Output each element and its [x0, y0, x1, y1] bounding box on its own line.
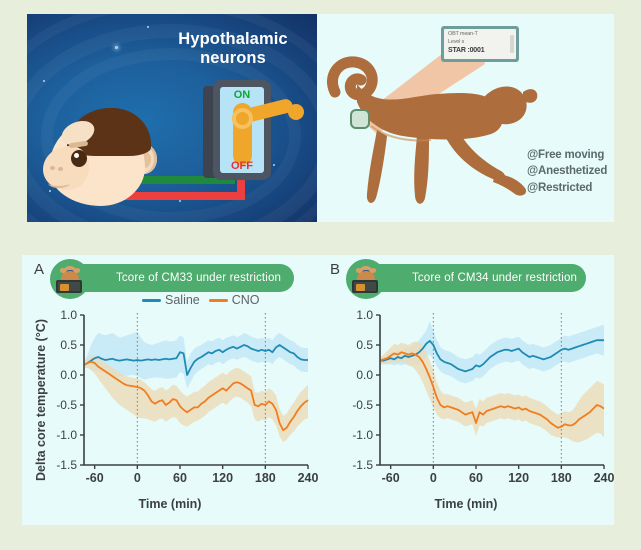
y-tick-label: 0.5	[356, 338, 373, 352]
panel-b-badge: Tcore of CM34 under restriction	[354, 264, 586, 292]
switch-lever-tip	[288, 104, 304, 120]
y-tick-label: 0.0	[356, 368, 373, 382]
panel-b-badge-label: Tcore of CM34 under restriction	[412, 272, 577, 284]
star-icon	[43, 80, 45, 82]
x-tick-label: 240	[298, 471, 318, 485]
y-tick-label: -1.0	[352, 428, 373, 442]
switch-on-label: ON	[220, 89, 264, 101]
x-tick-label: 180	[551, 471, 572, 485]
monkey-in-chair-icon	[50, 259, 90, 299]
data-logger-icon: OBT mean-T Level s STAR :0001	[441, 26, 519, 62]
y-tick-label: -0.5	[352, 398, 373, 412]
x-tick-label: 0	[430, 471, 437, 485]
panel-a-svg: -1.5-1.0-0.50.00.51.0-60060120180240	[22, 301, 318, 501]
legend-swatch-saline	[142, 299, 161, 302]
title-line-1: Hypothalamic	[157, 30, 309, 49]
monkey-tail	[332, 62, 372, 95]
panel-a-badge: Tcore of CM33 under restriction	[58, 264, 294, 292]
x-tick-label: 60	[173, 471, 187, 485]
top-illustration-card: Hypothalamic neurons ON	[27, 14, 614, 222]
condition-item: @Free moving	[527, 147, 607, 163]
x-axis-label: Time (min)	[22, 497, 318, 511]
hypothalamic-neurons-scene: Hypothalamic neurons ON	[27, 14, 317, 222]
y-tick-label: -1.5	[56, 458, 77, 472]
legend-item-cno: CNO	[209, 293, 260, 307]
panel-b-letter: B	[330, 261, 340, 278]
y-axis-label: Delta core temperature (°C)	[34, 315, 48, 485]
monkey-snout	[523, 89, 537, 103]
switch-off-label: OFF	[220, 160, 264, 172]
monkey-hand	[493, 174, 526, 196]
x-tick-label: 120	[212, 471, 233, 485]
title-line-2: neurons	[157, 49, 309, 68]
legend-label-cno: CNO	[232, 293, 260, 307]
logger-line-2: Level s	[448, 39, 464, 45]
y-tick-label: 0.5	[60, 338, 77, 352]
star-icon	[115, 46, 118, 49]
badge-chair-box	[352, 280, 378, 293]
monkey-nostril	[50, 166, 55, 170]
panel-b: B Tcore of CM34 under restriction -1.5-1…	[318, 255, 614, 525]
logger-line-3: STAR :0001	[448, 47, 484, 54]
x-tick-label: -60	[86, 471, 104, 485]
logger-line-1: OBT mean-T	[448, 31, 478, 37]
condition-item: @Restricted	[527, 180, 607, 196]
chart-legend: Saline CNO	[142, 293, 260, 307]
monkey-eye	[71, 150, 87, 167]
legend-swatch-cno	[209, 299, 228, 302]
panel-a-letter: A	[34, 261, 44, 278]
x-tick-label: 180	[255, 471, 276, 485]
switch-plate: ON OFF	[220, 87, 264, 173]
badge-chair-box	[56, 280, 82, 293]
legend-label-saline: Saline	[165, 293, 200, 307]
panel-a-plot: Delta core temperature (°C) Saline CNO -…	[22, 301, 318, 525]
y-tick-label: 1.0	[356, 308, 373, 322]
star-icon	[273, 164, 275, 166]
x-tick-label: 60	[469, 471, 483, 485]
panel-a-badge-label: Tcore of CM33 under restriction	[116, 272, 281, 284]
y-tick-label: 1.0	[60, 308, 77, 322]
logger-side-tab	[510, 35, 514, 53]
legend-item-saline: Saline	[142, 293, 200, 307]
y-tick-label: -1.5	[352, 458, 373, 472]
x-tick-label: 240	[594, 471, 614, 485]
y-tick-label: -1.0	[56, 428, 77, 442]
x-tick-label: 120	[508, 471, 529, 485]
condition-item: @Anesthetized	[527, 163, 607, 179]
panel-b-svg: -1.5-1.0-0.50.00.51.0-60060120180240	[318, 301, 614, 501]
star-icon	[147, 26, 149, 28]
monkey-leg-rear	[414, 136, 429, 204]
x-axis-label: Time (min)	[318, 497, 614, 511]
y-tick-label: -0.5	[56, 398, 77, 412]
x-tick-label: -60	[382, 471, 400, 485]
condition-list: @Free moving @Anesthetized @Restricted	[527, 147, 607, 196]
panel-b-plot: -1.5-1.0-0.50.00.51.0-60060120180240 Tim…	[318, 301, 614, 525]
monkey-head	[485, 86, 527, 124]
logger-screen: OBT mean-T Level s STAR :0001	[444, 29, 516, 59]
switch-knob	[232, 108, 253, 129]
star-icon	[179, 200, 181, 202]
monkey-head-icon	[45, 106, 163, 211]
monkey-mouth	[48, 178, 70, 188]
monkey-nostril	[58, 167, 63, 171]
y-tick-label: 0.0	[60, 368, 77, 382]
hypothalamic-neurons-title: Hypothalamic neurons	[157, 30, 309, 69]
results-card: A Tcore of CM33 under restriction Delta …	[22, 255, 614, 525]
toggle-switch-icon[interactable]: ON OFF	[213, 80, 271, 180]
monkey-leg-front	[367, 130, 387, 203]
free-moving-monkey-scene: OBT mean-T Level s STAR :0001 @Free movi…	[317, 14, 614, 222]
implanted-logger-marker	[351, 110, 369, 128]
panel-a: A Tcore of CM33 under restriction Delta …	[22, 255, 318, 525]
x-tick-label: 0	[134, 471, 141, 485]
monkey-in-chair-icon	[346, 259, 386, 299]
